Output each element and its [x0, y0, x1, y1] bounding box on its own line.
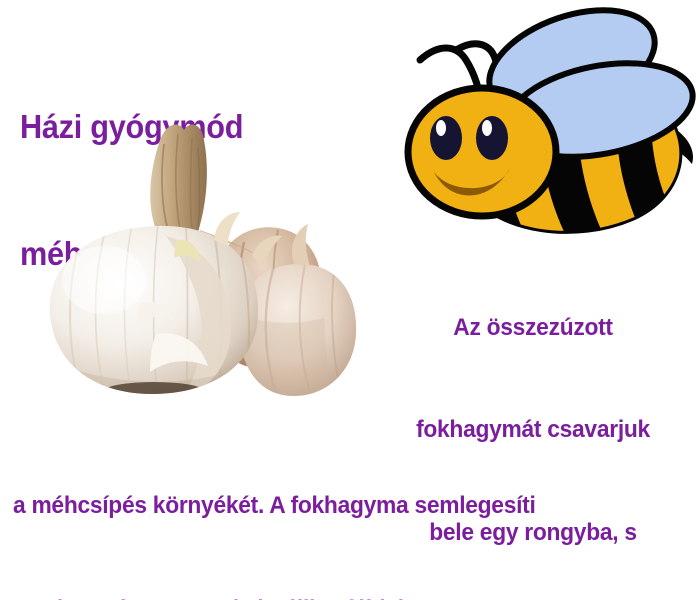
bee-illustration	[396, 4, 700, 244]
garlic-illustration	[38, 118, 368, 420]
bee-eye-right	[476, 116, 508, 160]
closing-line-2: a mérget, így azonnal elmúlik a fájdalom…	[13, 593, 659, 600]
recipe-line-1: Az összezúzott	[380, 311, 686, 345]
bee-eye-left	[430, 116, 462, 160]
poster-canvas: Házi gyógymód méhcsípésre	[0, 0, 700, 600]
closing-line-1: a méhcsípés környékét. A fokhagyma semle…	[13, 489, 659, 524]
closing-text: a méhcsípés környékét. A fokhagyma semle…	[13, 420, 659, 600]
garlic-main-bulb	[48, 224, 260, 408]
